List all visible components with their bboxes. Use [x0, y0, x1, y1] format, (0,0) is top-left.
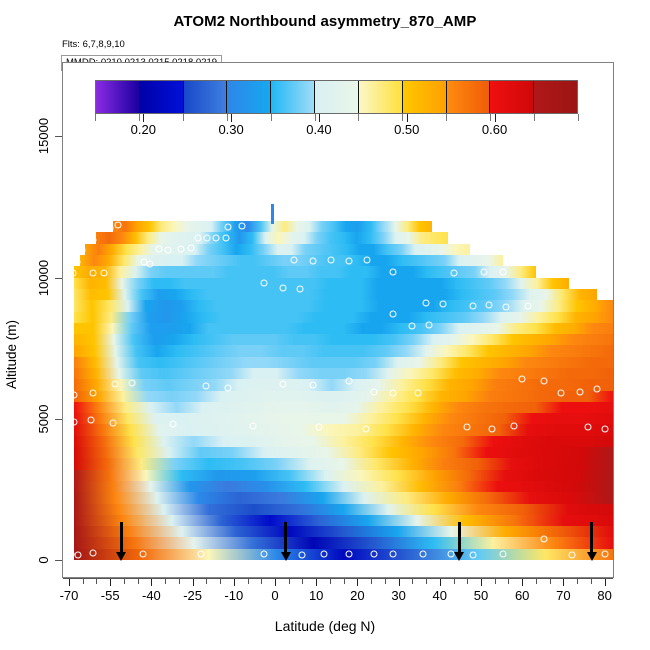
observation-marker: [420, 551, 427, 558]
observation-marker: [425, 322, 432, 329]
heatmap-spike: [271, 204, 274, 224]
observation-marker: [310, 258, 317, 265]
observation-marker: [486, 302, 493, 309]
observation-marker: [188, 245, 195, 252]
observation-marker: [260, 550, 267, 557]
latitude-arrow: [458, 522, 461, 553]
y-axis-ticklabel: 0: [36, 556, 51, 563]
observation-marker: [69, 269, 76, 276]
observation-marker: [469, 302, 476, 309]
observation-marker: [541, 377, 548, 384]
y-axis-ticklabel: 10000: [36, 260, 51, 296]
observation-marker: [90, 390, 97, 397]
x-axis-ticklabel: 60: [515, 588, 529, 603]
heatmap-row: [74, 447, 613, 458]
colorbar-segment: [96, 81, 140, 113]
observation-marker: [203, 383, 210, 390]
colorbar-tick: [358, 114, 359, 121]
colorbar-segment: [140, 81, 184, 113]
observation-marker: [390, 311, 397, 318]
x-axis-tick: [234, 578, 235, 586]
colorbar-segment: [403, 81, 447, 113]
y-axis-tick: [55, 136, 62, 137]
observation-marker: [450, 269, 457, 276]
x-axis-tick: [440, 578, 441, 586]
x-axis-tick: [605, 578, 606, 586]
observation-marker: [464, 424, 471, 431]
observation-marker: [178, 245, 185, 252]
colorbar-tick-major: [495, 114, 496, 122]
x-axis-tick: [563, 578, 564, 586]
observation-marker: [364, 256, 371, 263]
colorbar-tick: [315, 114, 316, 121]
chart-canvas: ATOM2 Northbound asymmetry_870_AMP Flts:…: [0, 0, 650, 650]
observation-marker: [327, 256, 334, 263]
heatmap-field: [63, 63, 613, 577]
x-axis-tick: [69, 578, 70, 586]
heatmap-row: [74, 368, 613, 379]
x-axis-tick: [275, 578, 276, 586]
heatmap-row: [74, 312, 613, 323]
heatmap-row: [74, 278, 569, 289]
observation-marker: [146, 260, 153, 267]
observation-marker: [197, 550, 204, 557]
colorbar-tick: [271, 114, 272, 121]
latitude-arrow: [284, 522, 287, 553]
observation-marker: [71, 391, 78, 398]
x-axis-ticklabel: 10: [309, 588, 323, 603]
observation-marker: [90, 269, 97, 276]
x-axis-ticklabel: -10: [224, 588, 243, 603]
colorbar-ticklabel: 0.60: [482, 122, 507, 137]
x-axis-ticklabel: 70: [556, 588, 570, 603]
x-axis-tick: [151, 578, 152, 586]
observation-marker: [260, 280, 267, 287]
observation-marker: [213, 235, 220, 242]
x-axis-ticklabel: 0: [271, 588, 278, 603]
observation-marker: [568, 551, 575, 558]
colorbar-tick-major: [407, 114, 408, 122]
y-axis-tick: [55, 560, 62, 561]
observation-marker: [346, 377, 353, 384]
heatmap-row: [74, 458, 613, 469]
colorbar-segment: [447, 81, 491, 113]
colorbar-ticklabel: 0.20: [131, 122, 156, 137]
y-axis-tick: [55, 278, 62, 279]
colorbar-segment: [227, 81, 271, 113]
colorbar-tick: [578, 114, 579, 121]
observation-marker: [577, 389, 584, 396]
observation-marker: [469, 551, 476, 558]
y-axis-ticklabel: 15000: [36, 118, 51, 154]
observation-marker: [390, 268, 397, 275]
observation-marker: [585, 424, 592, 431]
observation-marker: [601, 425, 608, 432]
heatmap-row: [74, 515, 613, 526]
flights-annotation: Flts: 6,7,8,9,10: [62, 39, 125, 50]
observation-marker: [315, 424, 322, 431]
heatmap-row: [74, 266, 536, 277]
colorbar-segment: [534, 81, 577, 113]
heatmap-row: [74, 436, 613, 447]
observation-marker: [238, 222, 245, 229]
x-axis: Latitude (deg N) -70-55-40-25-1001020304…: [0, 578, 650, 650]
observation-marker: [204, 235, 211, 242]
heatmap-row: [96, 232, 448, 243]
colorbar: 0.200.300.400.500.60: [95, 80, 578, 114]
colorbar-tick: [183, 114, 184, 121]
y-axis-title: Altitude (m): [4, 320, 19, 389]
heatmap-row: [74, 413, 613, 424]
observation-marker: [71, 418, 78, 425]
x-axis-ticklabel: -70: [60, 588, 79, 603]
colorbar-ticklabel: 0.40: [306, 122, 331, 137]
observation-marker: [249, 422, 256, 429]
observation-marker: [90, 549, 97, 556]
observation-marker: [557, 390, 564, 397]
colorbar-tick: [402, 114, 403, 121]
colorbar-tick: [139, 114, 140, 121]
x-axis-tick: [193, 578, 194, 586]
x-axis-ticklabel: -55: [101, 588, 120, 603]
observation-marker: [112, 380, 119, 387]
observation-marker: [480, 269, 487, 276]
colorbar-tick: [534, 114, 535, 121]
colorbar-tick: [95, 114, 96, 121]
observation-marker: [511, 422, 518, 429]
observation-marker: [500, 551, 507, 558]
observation-marker: [225, 223, 232, 230]
heatmap-row: [74, 504, 613, 515]
x-axis-ticklabel: 80: [597, 588, 611, 603]
y-axis: Altitude (m) 050001000015000: [0, 0, 62, 650]
heatmap-row: [74, 334, 613, 345]
observation-marker: [194, 235, 201, 242]
x-axis-line: [63, 578, 613, 579]
heatmap-row: [74, 424, 613, 435]
colorbar-tick-major: [319, 114, 320, 122]
x-axis-ticklabel: 20: [350, 588, 364, 603]
observation-marker: [296, 285, 303, 292]
observation-marker: [370, 551, 377, 558]
observation-marker: [500, 268, 507, 275]
observation-marker: [390, 551, 397, 558]
heatmap-row: [74, 357, 613, 368]
observation-marker: [106, 225, 113, 232]
heatmap-row: [74, 526, 613, 537]
observation-marker: [310, 381, 317, 388]
observation-marker: [346, 257, 353, 264]
heatmap-row: [74, 470, 613, 481]
x-axis-tick: [110, 578, 111, 586]
observation-marker: [280, 285, 287, 292]
colorbar-segment: [271, 81, 315, 113]
observation-marker: [101, 270, 108, 277]
x-axis-ticklabel: 50: [474, 588, 488, 603]
observation-marker: [601, 551, 608, 558]
observation-marker: [439, 301, 446, 308]
heatmap-row: [74, 345, 613, 356]
colorbar-tick-major: [231, 114, 232, 122]
observation-marker: [115, 222, 122, 229]
observation-marker: [519, 376, 526, 383]
x-axis-title: Latitude (deg N): [0, 618, 650, 634]
heatmap-row: [74, 323, 613, 334]
colorbar-segment: [184, 81, 228, 113]
observation-marker: [90, 236, 97, 243]
observation-marker: [502, 304, 509, 311]
heatmap-row: [85, 244, 470, 255]
colorbar-ticks: [95, 114, 578, 122]
observation-marker: [109, 420, 116, 427]
observation-marker: [362, 425, 369, 432]
observation-marker: [68, 551, 75, 558]
observation-marker: [409, 322, 416, 329]
observation-marker: [164, 246, 171, 253]
observation-marker: [170, 421, 177, 428]
observation-marker: [489, 425, 496, 432]
observation-marker: [541, 535, 548, 542]
observation-marker: [225, 384, 232, 391]
observation-marker: [321, 551, 328, 558]
observation-marker: [280, 380, 287, 387]
page-title: ATOM2 Northbound asymmetry_870_AMP: [0, 13, 650, 30]
heatmap-row: [74, 391, 613, 402]
colorbar-ticklabel: 0.30: [218, 122, 243, 137]
heatmap-row: [74, 481, 613, 492]
colorbar-ticklabel: 0.50: [394, 122, 419, 137]
colorbar-tick: [227, 114, 228, 121]
colorbar-gradient: [95, 80, 578, 114]
observation-marker: [87, 417, 94, 424]
x-axis-ticklabel: 30: [391, 588, 405, 603]
x-axis-tick: [399, 578, 400, 586]
observation-marker: [423, 300, 430, 307]
observation-marker: [370, 389, 377, 396]
colorbar-ticklabels: 0.200.300.400.500.60: [95, 122, 578, 138]
observation-marker: [291, 257, 298, 264]
latitude-arrow: [590, 522, 593, 553]
colorbar-tick: [490, 114, 491, 121]
observation-marker: [299, 551, 306, 558]
x-axis-tick: [522, 578, 523, 586]
heatmap-row: [74, 379, 613, 390]
observation-marker: [222, 235, 229, 242]
observation-marker: [79, 246, 86, 253]
x-axis-ticklabel: 40: [433, 588, 447, 603]
heatmap-row: [74, 300, 613, 311]
heatmap-row: [74, 289, 597, 300]
colorbar-tick: [446, 114, 447, 121]
x-axis-tick: [481, 578, 482, 586]
x-axis-ticklabel: -40: [142, 588, 161, 603]
latitude-arrow: [120, 522, 123, 553]
y-axis-ticklabel: 5000: [36, 404, 51, 433]
x-axis-tick: [357, 578, 358, 586]
heatmap-row: [74, 549, 613, 560]
observation-marker: [390, 390, 397, 397]
y-axis-tick: [55, 419, 62, 420]
colorbar-segment: [359, 81, 403, 113]
colorbar-segment: [315, 81, 359, 113]
observation-marker: [524, 303, 531, 310]
x-axis-ticklabel: -25: [183, 588, 202, 603]
heatmap-row: [74, 537, 613, 548]
x-axis-tick: [316, 578, 317, 586]
observation-marker: [593, 386, 600, 393]
observation-marker: [128, 379, 135, 386]
colorbar-tick-major: [143, 114, 144, 122]
observation-marker: [346, 551, 353, 558]
heatmap-row: [74, 492, 613, 503]
observation-marker: [73, 258, 80, 265]
observation-marker: [75, 551, 82, 558]
observation-marker: [156, 245, 163, 252]
observation-marker: [139, 551, 146, 558]
observation-marker: [414, 390, 421, 397]
heatmap-row: [74, 402, 613, 413]
colorbar-segment: [490, 81, 534, 113]
